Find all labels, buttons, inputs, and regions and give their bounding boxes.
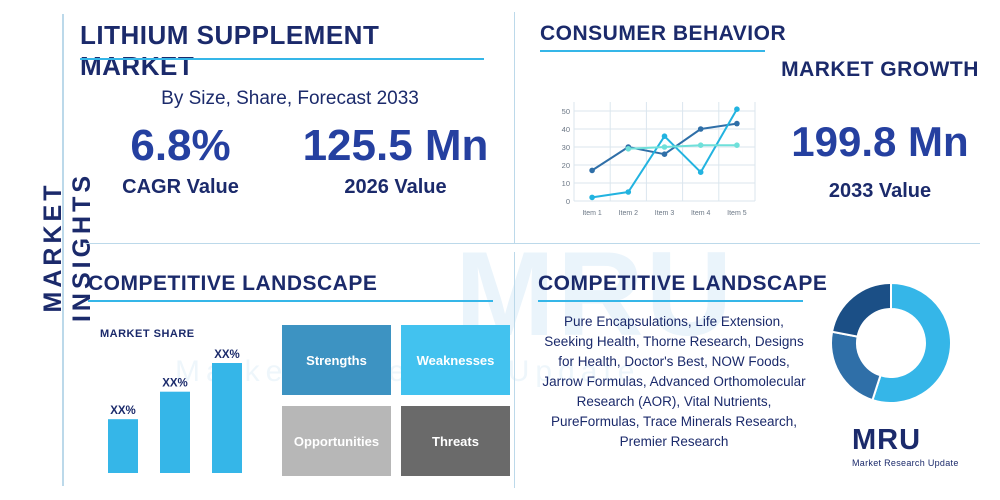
svg-text:Item 1: Item 1 — [582, 210, 602, 217]
stat-cagr: 6.8% CAGR Value — [78, 118, 283, 199]
svg-text:10: 10 — [562, 179, 570, 188]
competitive-landscape-left-title: COMPETITIVE LANDSCAPE — [88, 272, 377, 296]
horizontal-divider — [85, 243, 980, 244]
svg-text:Item 3: Item 3 — [655, 210, 675, 217]
swot-cell-strengths[interactable]: Strengths — [282, 325, 391, 395]
logo-tagline: Market Research Update — [852, 458, 978, 468]
svg-text:30: 30 — [562, 143, 570, 152]
stat-2026-label: 2026 Value — [288, 176, 503, 199]
market-share-label: MARKET SHARE — [100, 328, 195, 340]
company-list: Pure Encapsulations, Life Extension, See… — [538, 312, 810, 452]
svg-text:40: 40 — [562, 125, 570, 134]
consumer-behavior-title: CONSUMER BEHAVIOR — [540, 22, 786, 46]
line-chart-x-axis-labels: Item 1Item 2Item 3Item 4Item 5 — [582, 210, 746, 217]
competitive-landscape-left-underline — [88, 300, 493, 302]
stat-cagr-label: CAGR Value — [78, 176, 283, 199]
line-chart-y-axis-labels: 01020304050 — [562, 107, 570, 206]
svg-text:50: 50 — [562, 107, 570, 116]
svg-text:0: 0 — [566, 197, 570, 206]
logo-name: MRU — [852, 424, 978, 457]
competitive-landscape-right-underline — [538, 300, 803, 302]
swot-cell-threats[interactable]: Threats — [401, 406, 510, 476]
stat-cagr-value: 6.8% — [78, 118, 283, 174]
page-subtitle: By Size, Share, Forecast 2033 — [80, 88, 500, 110]
title-underline — [80, 58, 484, 60]
svg-text:XX%: XX% — [110, 405, 136, 417]
competitive-landscape-right-title: COMPETITIVE LANDSCAPE — [538, 272, 827, 296]
svg-text:XX%: XX% — [214, 349, 240, 361]
logo: MRU Market Research Update — [852, 424, 978, 476]
market-growth-value: 199.8 Mn — [780, 118, 980, 166]
svg-text:20: 20 — [562, 161, 570, 170]
svg-text:Item 4: Item 4 — [691, 210, 711, 217]
bar-chart-svg: XX%XX%XX% — [100, 345, 268, 475]
page-title: LITHIUM SUPPLEMENT MARKET — [80, 20, 500, 82]
donut-slices — [831, 283, 951, 403]
svg-text:Item 2: Item 2 — [619, 210, 639, 217]
vertical-divider-bottom — [514, 252, 515, 488]
infographic-page: MRU Market Research Update MARKET INSIGH… — [0, 0, 1000, 500]
stat-2026-value: 125.5 Mn — [288, 118, 503, 174]
market-growth-title: MARKET GROWTH — [780, 58, 980, 82]
svg-text:Item 5: Item 5 — [727, 210, 747, 217]
consumer-behavior-underline — [540, 50, 765, 52]
donut-chart — [826, 278, 956, 408]
swot-cell-weaknesses[interactable]: Weaknesses — [401, 325, 510, 395]
svg-text:XX%: XX% — [162, 378, 188, 390]
swot-grid: Strengths Weaknesses Opportunities Threa… — [282, 325, 510, 475]
vertical-divider-top — [514, 12, 515, 244]
stat-2026: 125.5 Mn 2026 Value — [288, 118, 503, 199]
swot-cell-opportunities[interactable]: Opportunities — [282, 406, 391, 476]
line-chart-svg: 01020304050 Item 1Item 2Item 3Item 4Item… — [548, 96, 763, 221]
bar-chart: XX%XX%XX% — [100, 345, 268, 475]
line-chart: 01020304050 Item 1Item 2Item 3Item 4Item… — [548, 96, 763, 221]
donut-chart-svg — [826, 278, 956, 408]
market-growth-label: 2033 Value — [780, 180, 980, 203]
line-chart-series — [589, 106, 739, 200]
